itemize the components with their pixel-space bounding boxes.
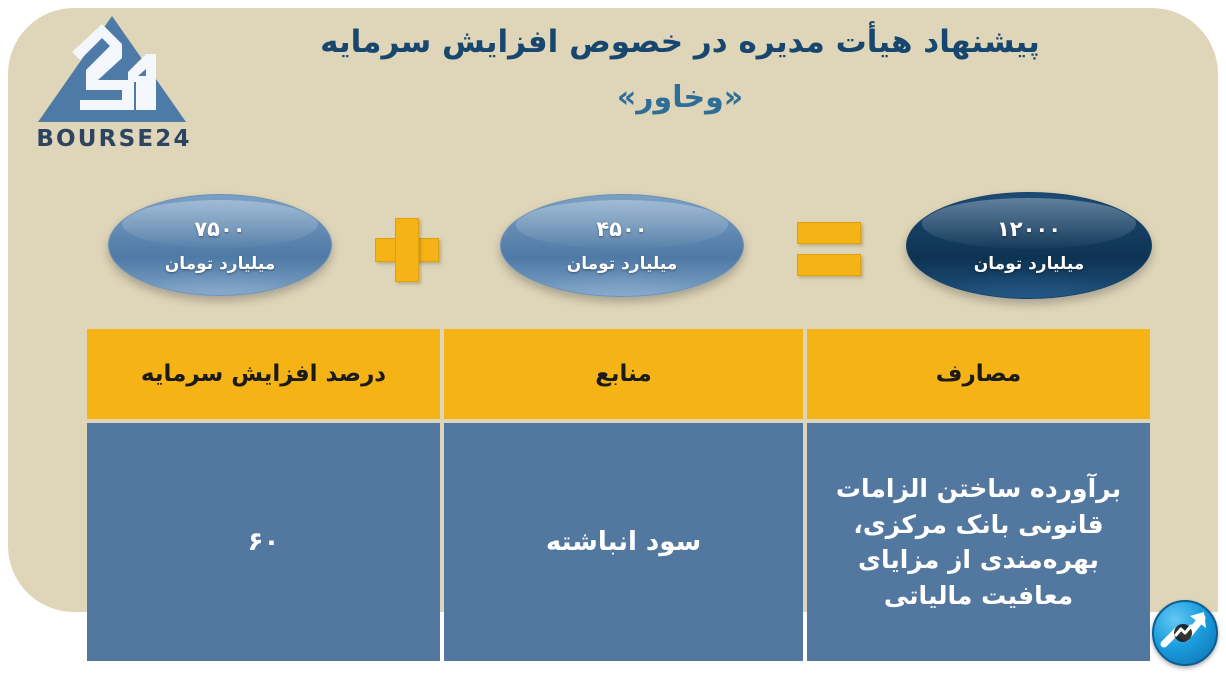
amount-value: ۱۲۰۰۰ — [997, 217, 1061, 241]
title-block: پیشنهاد هیأت مدیره در خصوص افزایش سرمایه… — [230, 22, 1130, 115]
amount-bubble-addition: ۴۵۰۰ میلیارد تومان — [500, 194, 744, 297]
plus-icon — [375, 218, 437, 280]
table-cell-masaref: برآورده ساختن الزامات قانونی بانک مرکزی،… — [807, 423, 1150, 661]
table-column-darsad-afzayesh-sarmaye: درصد افزایش سرمایه ۶۰ — [87, 329, 440, 661]
trending-up-arrow-badge — [1152, 600, 1218, 666]
table-column-masaref: مصارف برآورده ساختن الزامات قانونی بانک … — [807, 329, 1150, 661]
table-column-manabe: منابع سود انباشته — [444, 329, 803, 661]
table-cell-manabe: سود انباشته — [444, 423, 803, 661]
table-header-manabe: منابع — [444, 329, 803, 419]
table-header-darsad: درصد افزایش سرمایه — [87, 329, 440, 419]
equals-icon — [797, 222, 859, 276]
brand-logo-text: BOURSE24 — [26, 126, 202, 152]
table-header-masaref: مصارف — [807, 329, 1150, 419]
amount-unit: میلیارد تومان — [165, 254, 276, 274]
table-cell-darsad: ۶۰ — [87, 423, 440, 661]
page-subtitle: «وخاور» — [230, 80, 1130, 115]
capital-increase-table: مصارف برآورده ساختن الزامات قانونی بانک … — [87, 329, 1150, 661]
brand-logo: BOURSE24 — [26, 14, 202, 162]
amount-unit: میلیارد تومان — [567, 254, 678, 274]
infographic-canvas: BOURSE24 پیشنهاد هیأت مدیره در خصوص افزا… — [0, 0, 1226, 681]
amount-bubble-sources: ۷۵۰۰ میلیارد تومان — [108, 194, 332, 296]
amount-value: ۷۵۰۰ — [194, 217, 245, 241]
amount-value: ۴۵۰۰ — [596, 217, 647, 241]
amount-bubble-total: ۱۲۰۰۰ میلیارد تومان — [906, 192, 1152, 299]
amount-unit: میلیارد تومان — [974, 254, 1085, 274]
page-title: پیشنهاد هیأت مدیره در خصوص افزایش سرمایه — [230, 22, 1130, 64]
bourse24-triangle-24-logo — [36, 14, 188, 124]
